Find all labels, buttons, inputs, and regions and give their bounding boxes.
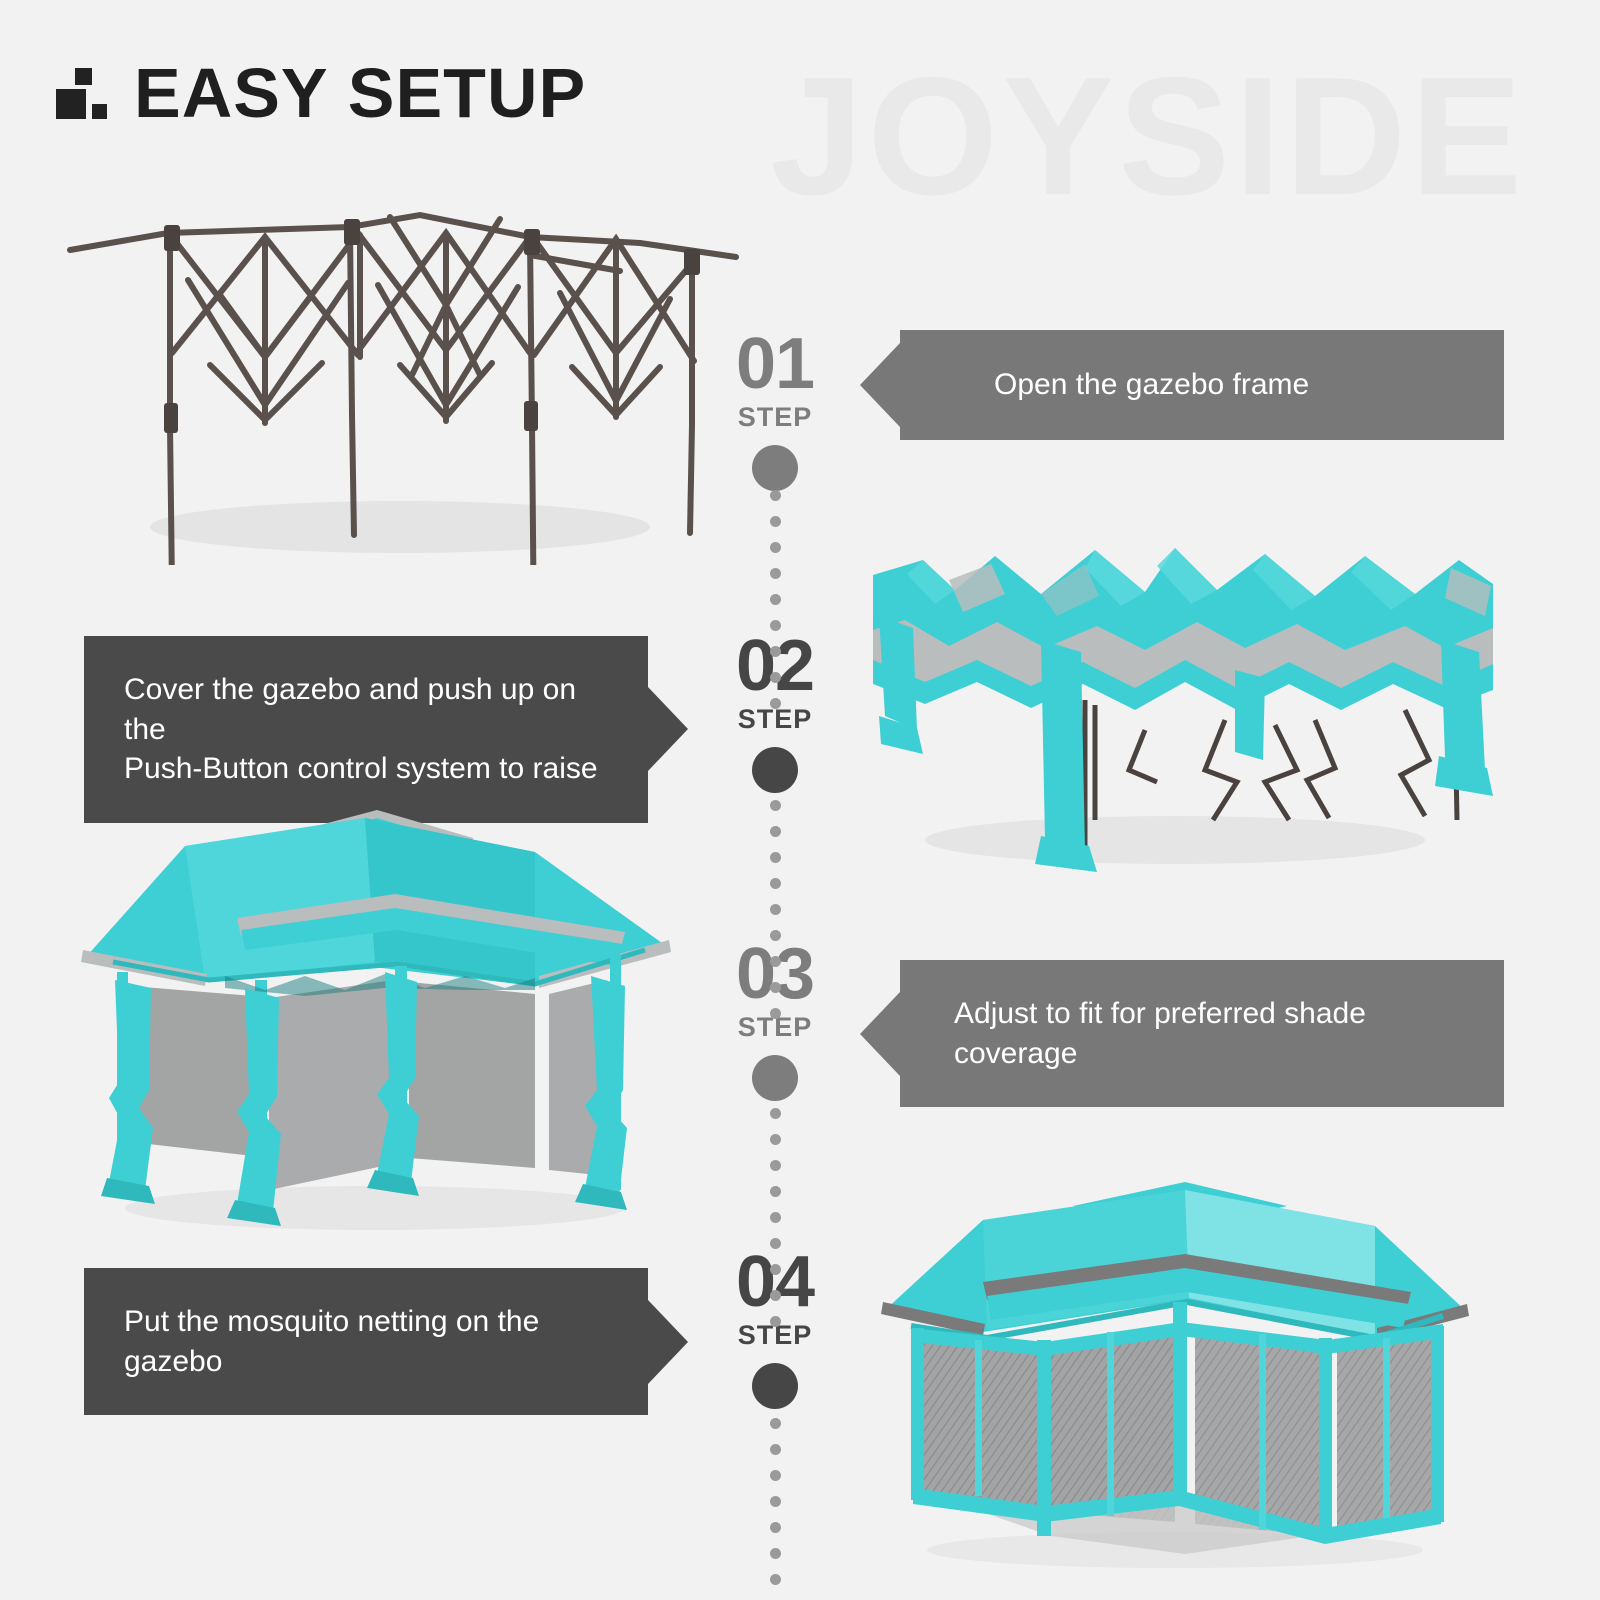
timeline-dot	[770, 490, 781, 501]
timeline-connector-2	[770, 800, 781, 1034]
step-3-image	[65, 790, 690, 1240]
timeline-dot	[770, 620, 781, 631]
timeline-connector-3	[770, 1108, 781, 1342]
timeline-dot	[770, 1160, 781, 1171]
step-callout-line-2: Push-Button control system to raise	[124, 749, 598, 789]
step-callout-1: Open the gazebo frame	[900, 330, 1504, 440]
page-header: EASY SETUP	[56, 58, 586, 128]
callout-arrow-icon	[648, 687, 688, 771]
step-callout-3: Adjust to fit for preferred shade covera…	[900, 960, 1504, 1107]
timeline-dot	[770, 1186, 781, 1197]
timeline-dot	[770, 1316, 781, 1327]
step-callout-text: Open the gazebo frame	[994, 365, 1309, 405]
timeline-dot	[770, 904, 781, 915]
timeline-dot	[770, 852, 781, 863]
timeline-dot	[770, 930, 781, 941]
step-marker-1: 01 STEP	[700, 330, 850, 491]
callout-shadow	[910, 1093, 1522, 1137]
timeline-dot	[770, 1522, 781, 1533]
timeline-connector-4	[770, 1418, 781, 1600]
timeline-dot	[770, 542, 781, 553]
timeline-dot	[770, 1134, 781, 1145]
step-number: 01	[700, 330, 850, 398]
step-label: STEP	[700, 402, 850, 433]
step-4-image	[855, 1150, 1495, 1570]
timeline-connector-1	[770, 490, 781, 724]
step-bullet	[752, 747, 798, 793]
brand-watermark: JOYSIDE	[770, 52, 1526, 220]
timeline-dot	[770, 1238, 781, 1249]
timeline-dot	[770, 594, 781, 605]
timeline-dot	[770, 1496, 781, 1507]
timeline-dot	[770, 1444, 781, 1455]
timeline-dot	[770, 982, 781, 993]
step-1-image	[60, 175, 750, 565]
timeline-dot	[770, 1418, 781, 1429]
step-callout-4: Put the mosquito netting on the gazebo	[84, 1268, 648, 1415]
callout-shadow	[910, 426, 1522, 470]
callout-arrow-icon	[648, 1300, 688, 1384]
timeline-dot	[770, 672, 781, 683]
step-callout-line-1: Cover the gazebo and push up on the	[124, 670, 608, 749]
three-squares-icon	[56, 62, 108, 124]
infographic-page: JOYSIDE EASY SETUP	[0, 0, 1600, 1600]
callout-arrow-icon	[860, 343, 900, 427]
timeline-dot	[770, 1264, 781, 1275]
timeline-dot	[770, 516, 781, 527]
step-bullet	[752, 1055, 798, 1101]
step-bullet	[752, 1363, 798, 1409]
step-callout-text: Put the mosquito netting on the gazebo	[124, 1302, 608, 1381]
page-title: EASY SETUP	[134, 58, 586, 128]
timeline-dot	[770, 698, 781, 709]
timeline-dot	[770, 800, 781, 811]
timeline-dot	[770, 1212, 781, 1223]
step-callout-text: Adjust to fit for preferred shade covera…	[954, 994, 1464, 1073]
step-2-image	[845, 520, 1505, 880]
timeline-dot	[770, 1548, 781, 1559]
timeline-dot	[770, 1108, 781, 1119]
timeline-dot	[770, 1290, 781, 1301]
timeline-dot	[770, 956, 781, 967]
timeline-dot	[770, 1008, 781, 1019]
step-bullet	[752, 445, 798, 491]
timeline-dot	[770, 646, 781, 657]
timeline-dot	[770, 568, 781, 579]
timeline-dot	[770, 1470, 781, 1481]
callout-shadow	[94, 1401, 666, 1445]
timeline-dot	[770, 878, 781, 889]
callout-arrow-icon	[860, 992, 900, 1076]
timeline-dot	[770, 1574, 781, 1585]
timeline-dot	[770, 826, 781, 837]
